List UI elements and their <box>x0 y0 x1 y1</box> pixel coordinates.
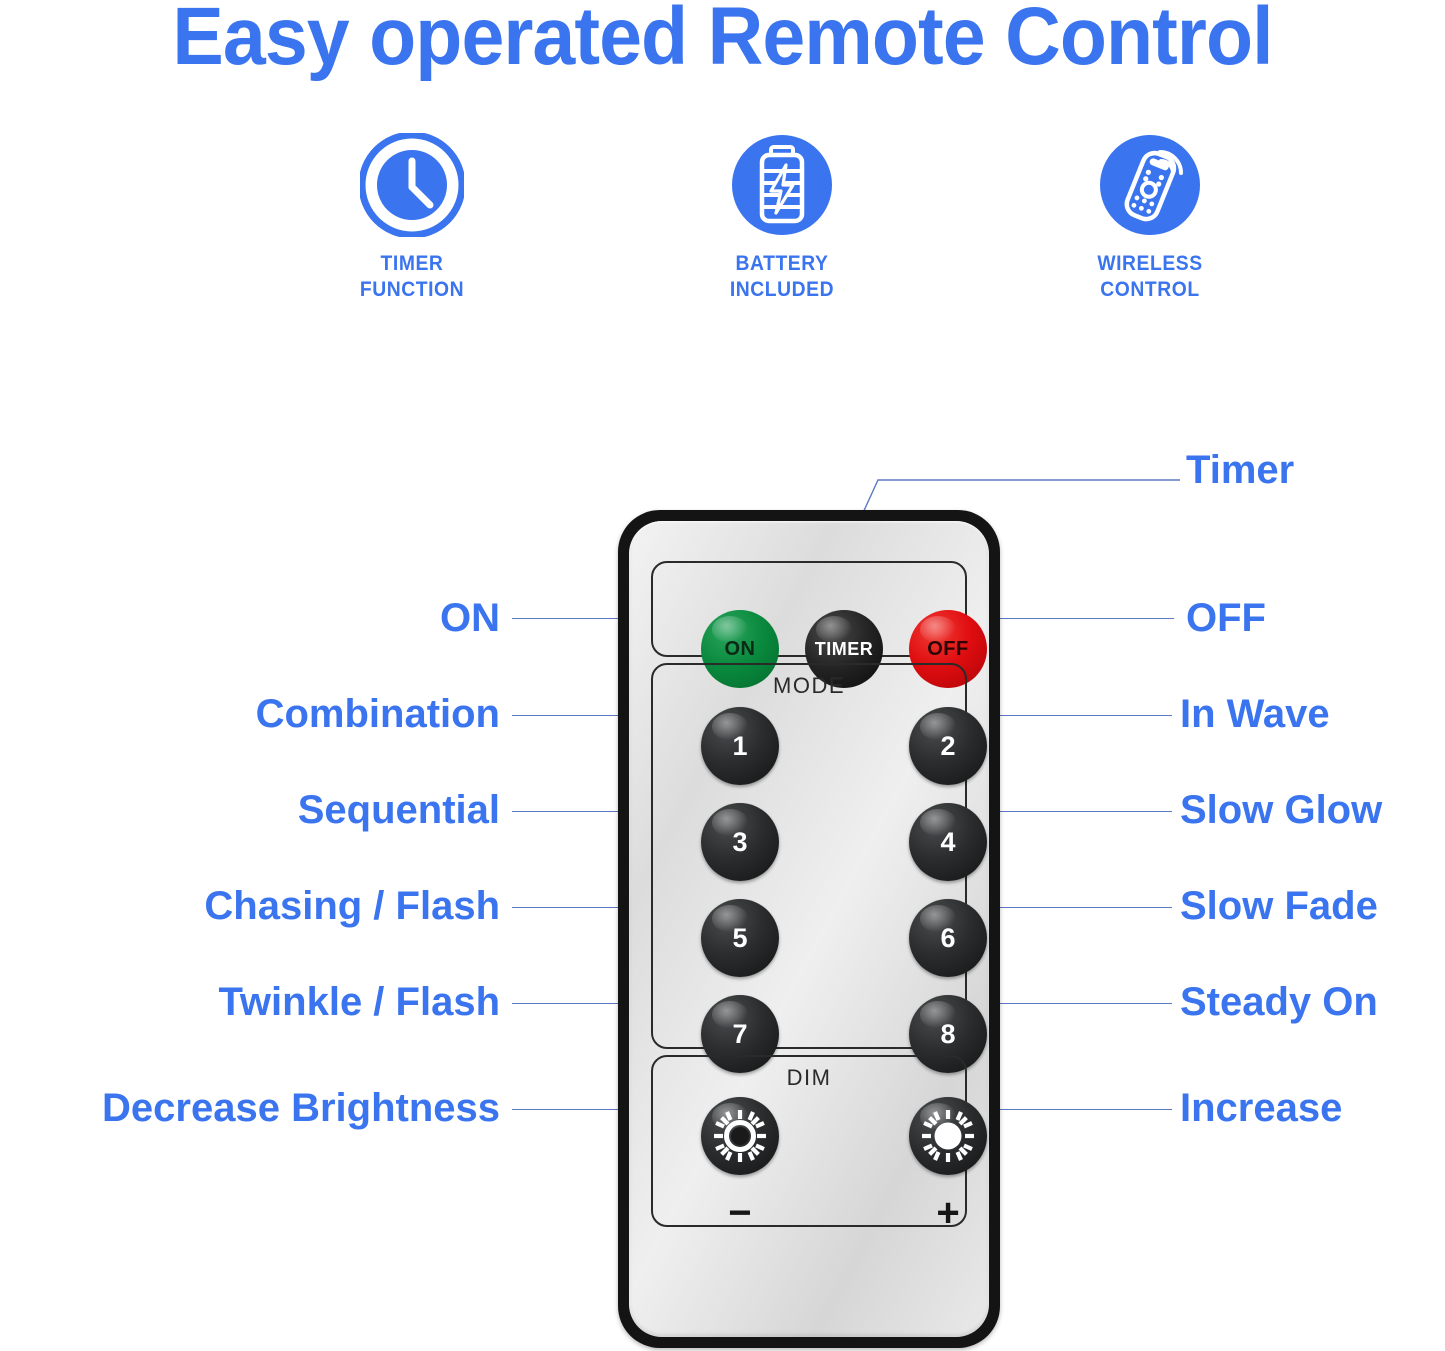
dim-decrease-sign: − <box>701 1193 779 1233</box>
callout-mode6: Slow Fade <box>1180 886 1378 926</box>
mode-button-5[interactable]: 5 <box>701 899 779 977</box>
timer-button-label: TIMER <box>815 639 874 660</box>
mode-button-label: 5 <box>732 923 747 954</box>
feature-caption-line2: FUNCTION <box>306 277 518 303</box>
mode-button-3[interactable]: 3 <box>701 803 779 881</box>
off-button-label: OFF <box>927 638 969 661</box>
callout-mode2: In Wave <box>1180 694 1330 734</box>
mode-button-label: 6 <box>940 923 955 954</box>
remote-signal-icon <box>1098 133 1202 237</box>
callout-dim-down: Decrease Brightness <box>102 1088 500 1128</box>
mode-button-label: 1 <box>732 731 747 762</box>
dim-increase-sign: + <box>909 1193 987 1233</box>
callout-mode5: Chasing / Flash <box>204 886 500 926</box>
sun-bright-icon <box>918 1106 978 1166</box>
callout-timer: Timer <box>1186 450 1294 490</box>
dim-panel: DIM <box>651 1055 967 1227</box>
sun-dim-icon <box>710 1106 770 1166</box>
callout-mode4: Slow Glow <box>1180 790 1382 830</box>
mode-button-6[interactable]: 6 <box>909 899 987 977</box>
callout-on: ON <box>440 598 500 638</box>
mode-button-label: 2 <box>940 731 955 762</box>
mode-panel-label: MODE <box>653 673 965 699</box>
battery-icon <box>730 133 834 237</box>
callout-mode7: Twinkle / Flash <box>218 982 500 1022</box>
feature-wireless-control: WIRELESS CONTROL <box>1035 133 1265 302</box>
remote-control-device: ON TIMER OFF MODE 1 2 3 4 5 6 7 8 <box>618 510 1000 1348</box>
mode-button-4[interactable]: 4 <box>909 803 987 881</box>
clock-icon <box>360 133 464 237</box>
dim-decrease-button[interactable] <box>701 1097 779 1175</box>
feature-caption-line1: WIRELESS <box>1044 251 1256 277</box>
feature-caption-line2: CONTROL <box>1044 277 1256 303</box>
feature-caption-line1: TIMER <box>306 251 518 277</box>
on-button-label: ON <box>725 638 756 661</box>
feature-caption: TIMER FUNCTION <box>306 251 518 302</box>
mode-button-2[interactable]: 2 <box>909 707 987 785</box>
feature-caption: WIRELESS CONTROL <box>1044 251 1256 302</box>
callout-mode3: Sequential <box>298 790 500 830</box>
feature-caption-line1: BATTERY <box>676 251 888 277</box>
callout-mode1: Combination <box>256 694 500 734</box>
callout-off: OFF <box>1186 598 1266 638</box>
remote-face: ON TIMER OFF MODE 1 2 3 4 5 6 7 8 <box>629 521 989 1337</box>
product-infographic: Easy operated Remote Control TIMER FUNCT… <box>0 0 1445 1351</box>
dim-panel-label: DIM <box>653 1065 965 1091</box>
mode-panel: MODE 1 2 3 4 5 6 7 8 <box>651 663 967 1049</box>
callout-mode8: Steady On <box>1180 982 1378 1022</box>
mode-button-1[interactable]: 1 <box>701 707 779 785</box>
feature-timer-function: TIMER FUNCTION <box>297 133 527 302</box>
power-panel: ON TIMER OFF <box>651 561 967 657</box>
feature-battery-included: BATTERY INCLUDED <box>667 133 897 302</box>
page-title: Easy operated Remote Control <box>43 0 1401 78</box>
mode-button-label: 8 <box>940 1019 955 1050</box>
callout-dim-up: Increase <box>1180 1088 1342 1128</box>
dim-increase-button[interactable] <box>909 1097 987 1175</box>
mode-button-label: 4 <box>940 827 955 858</box>
feature-caption: BATTERY INCLUDED <box>676 251 888 302</box>
mode-button-label: 3 <box>732 827 747 858</box>
feature-caption-line2: INCLUDED <box>676 277 888 303</box>
mode-button-label: 7 <box>732 1019 747 1050</box>
